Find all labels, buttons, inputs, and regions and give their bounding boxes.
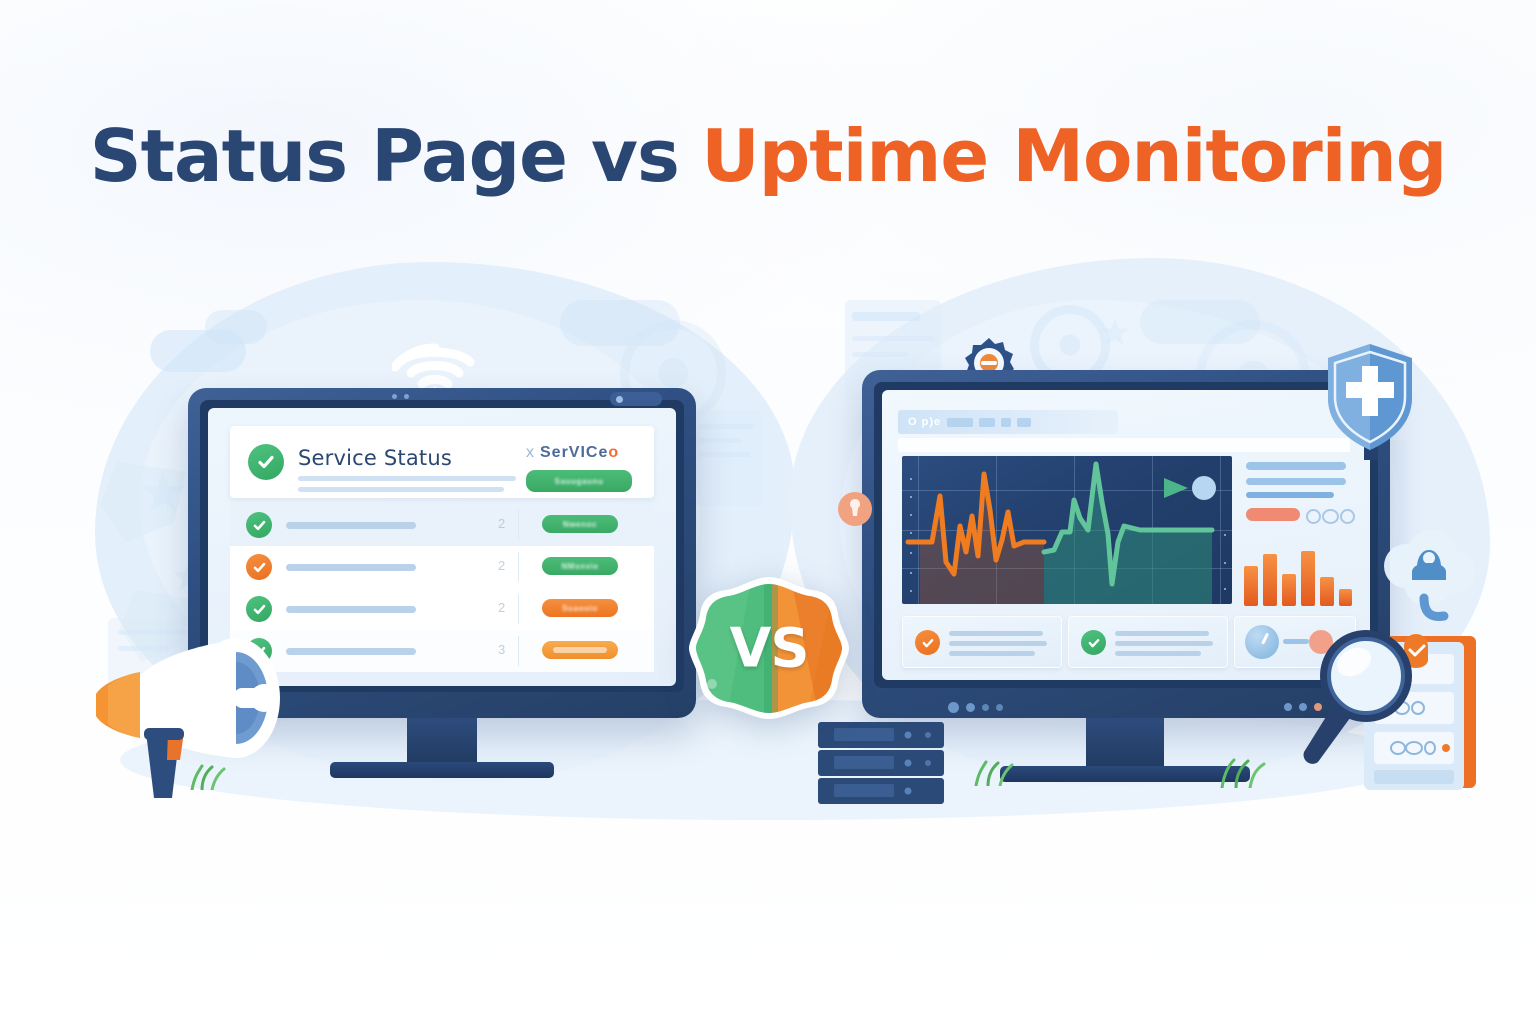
sidebar-ring-indicator xyxy=(1340,509,1355,524)
poster-canvas: Status Page vs Uptime Monitoring xyxy=(0,0,1536,1024)
row-count: 3 xyxy=(498,642,505,657)
sidebar-placeholder-line xyxy=(1246,492,1334,498)
right-monitor-neck xyxy=(1086,718,1164,766)
row-count: 2 xyxy=(498,600,505,615)
mini-bar xyxy=(1339,589,1352,606)
page-title: Status Page vs Uptime Monitoring xyxy=(0,120,1536,192)
cloud-decoration xyxy=(1140,300,1260,344)
table-row[interactable]: 2 Suaooio xyxy=(230,588,654,630)
row-status-badge-label: NMsnvie xyxy=(561,562,598,571)
card-placeholder-line xyxy=(1115,641,1213,646)
brand-suffix: o xyxy=(608,444,619,461)
header-status-badge-label: Sauugaunu xyxy=(555,477,604,486)
status-card[interactable] xyxy=(902,616,1062,668)
sidebar-ring-indicator xyxy=(1322,509,1339,524)
table-row[interactable]: 2 Nwenoc xyxy=(230,504,654,546)
brand-logo: xSerVICeo xyxy=(526,444,619,462)
line-decoration xyxy=(698,424,754,429)
alert-chip-icon xyxy=(838,490,872,528)
cloud-decoration xyxy=(560,300,680,346)
card-placeholder-line xyxy=(1115,631,1209,636)
mini-bar xyxy=(1320,577,1334,606)
line-decoration xyxy=(852,336,934,341)
grass-decoration xyxy=(1218,758,1268,793)
status-card[interactable] xyxy=(1068,616,1228,668)
cloud-user-icon xyxy=(1372,522,1480,631)
title-part-orange: Uptime Monitoring xyxy=(701,114,1446,198)
service-status-header-card: Service Status xSerVICeo Sauugaunu xyxy=(230,426,654,498)
row-label-placeholder xyxy=(286,564,416,571)
status-check-icon xyxy=(915,630,940,655)
response-time-chart xyxy=(902,456,1232,604)
toolbar-label: O p)e xyxy=(908,416,941,428)
table-row[interactable]: 2 NMsnvie xyxy=(230,546,654,588)
left-monitor-led-dot xyxy=(616,396,623,403)
row-count: 2 xyxy=(498,558,505,573)
header-placeholder-line xyxy=(298,487,504,492)
brand-name: SerVICe xyxy=(540,444,608,461)
row-status-badge: NMsnvie xyxy=(542,557,618,575)
title-part-dark: Status Page vs xyxy=(90,114,679,198)
status-check-icon xyxy=(246,512,272,538)
row-label-placeholder xyxy=(286,522,416,529)
gauge-icon xyxy=(1245,625,1279,659)
status-check-icon xyxy=(248,444,284,480)
status-check-icon xyxy=(246,554,272,580)
vs-badge: VS xyxy=(686,574,852,722)
toolbar-underlay xyxy=(898,438,1350,452)
mini-bar-chart xyxy=(1244,540,1352,606)
service-status-title: Service Status xyxy=(298,446,452,470)
row-divider xyxy=(518,510,519,540)
row-count: 2 xyxy=(498,516,505,531)
right-monitor-base xyxy=(1000,766,1250,782)
header-placeholder-line xyxy=(298,476,516,481)
card-placeholder-line xyxy=(949,641,1047,646)
dashboard-toolbar[interactable]: O p)e xyxy=(898,410,1118,434)
row-status-badge: Suaooio xyxy=(542,599,618,617)
mini-bar xyxy=(1282,574,1296,606)
sidebar-placeholder-line xyxy=(1246,478,1346,485)
status-check-icon xyxy=(246,596,272,622)
line-decoration xyxy=(852,352,908,357)
grass-decoration xyxy=(972,760,1016,791)
line-decoration xyxy=(698,452,750,457)
left-monitor-base xyxy=(330,762,554,778)
sidebar-ring-indicator xyxy=(1306,509,1321,524)
card-placeholder-line xyxy=(949,631,1043,636)
brand-x: x xyxy=(526,444,535,461)
row-divider xyxy=(518,552,519,582)
row-status-badge: Nwenoc xyxy=(542,515,618,533)
left-monitor-neck xyxy=(407,718,477,762)
shield-health-icon xyxy=(1322,340,1418,465)
row-status-badge-label: Nwenoc xyxy=(563,520,597,529)
gauge-needle xyxy=(1261,633,1269,645)
row-divider xyxy=(518,636,519,666)
grass-decoration xyxy=(188,764,232,795)
card-placeholder-line xyxy=(949,651,1035,656)
row-status-badge-label: Suaooio xyxy=(562,604,598,613)
mini-bar xyxy=(1301,551,1315,606)
card-placeholder-line xyxy=(1115,651,1201,656)
left-monitor-camera-dots xyxy=(392,394,409,399)
row-status-badge-fill xyxy=(553,647,608,653)
mini-bar xyxy=(1244,566,1258,606)
right-monitor-indicator-dots xyxy=(948,702,1003,713)
row-status-badge xyxy=(542,641,618,659)
server-rack xyxy=(812,718,964,815)
row-divider xyxy=(518,594,519,624)
header-status-badge: Sauugaunu xyxy=(526,470,632,492)
mini-bar xyxy=(1263,554,1277,606)
sidebar-alert-bar xyxy=(1246,508,1300,521)
line-decoration xyxy=(852,312,920,321)
row-label-placeholder xyxy=(286,606,416,613)
line-decoration xyxy=(698,438,742,443)
magnifier-icon xyxy=(1288,618,1428,773)
status-check-icon xyxy=(1081,630,1106,655)
vs-badge-label: VS xyxy=(686,617,852,680)
cloud-decoration xyxy=(205,310,267,344)
